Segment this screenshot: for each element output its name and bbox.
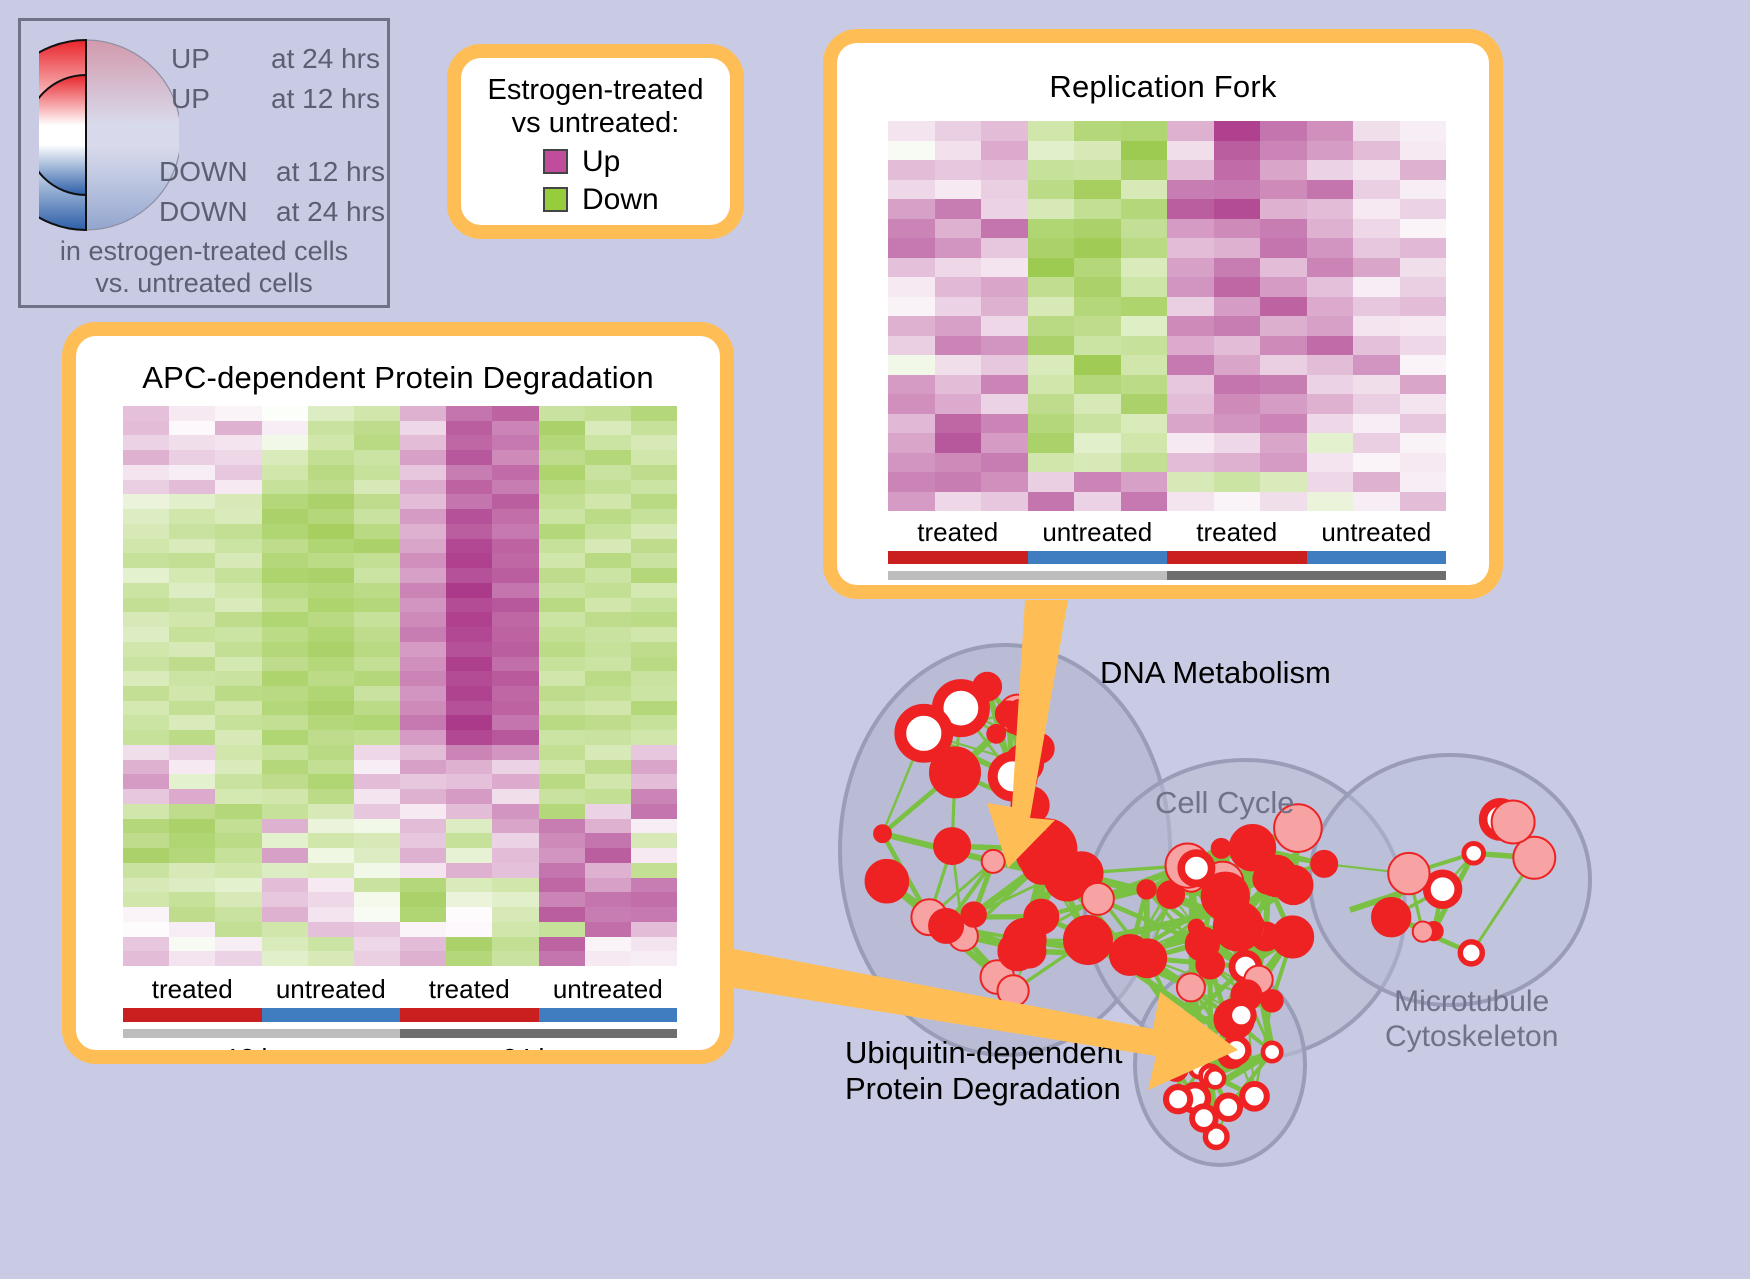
time-label-12: 12 hrs: [123, 1043, 400, 1050]
legend-panel: Estrogen-treated vs untreated: Up Down: [447, 44, 744, 239]
legend-title-line2: vs untreated:: [471, 107, 720, 140]
legend-title: Estrogen-treated vs untreated:: [471, 74, 720, 141]
legend-swatch-up-icon: [543, 149, 568, 174]
legend-title-line1: Estrogen-treated: [471, 74, 720, 107]
group-label-1: untreated: [262, 974, 401, 1005]
time-color-bar-replication-fork: [888, 571, 1446, 580]
legend-item-up: Up: [543, 145, 720, 179]
cluster-label-microtubule-cytoskeleton: Microtubule Cytoskeleton: [1385, 985, 1558, 1054]
legend-label-down: Down: [582, 183, 659, 217]
group-label-1: untreated: [1028, 517, 1168, 548]
group-labels-replication-fork: treated untreated treated untreated: [888, 517, 1446, 548]
panel-title-replication-fork: Replication Fork: [837, 69, 1489, 105]
time-labels-apc: 12 hrs 24 hrs: [123, 1043, 677, 1050]
heatmap-apc: [123, 406, 677, 966]
group-color-bar-replication-fork: [888, 551, 1446, 564]
time-label-24: 24 hrs: [400, 1043, 677, 1050]
group-label-0: treated: [888, 517, 1028, 548]
group-label-3: untreated: [539, 974, 678, 1005]
key-label-down-12: DOWN: [159, 156, 248, 188]
group-label-2: treated: [400, 974, 539, 1005]
group-label-3: untreated: [1307, 517, 1447, 548]
key-time-up-12: at 12 hrs: [271, 83, 380, 115]
group-labels-apc: treated untreated treated untreated: [123, 974, 677, 1005]
color-key-wheel: [39, 35, 179, 235]
key-label-up-12: UP: [171, 83, 210, 115]
panel-title-apc: APC-dependent Protein Degradation: [76, 360, 720, 396]
color-key-caption: in estrogen-treated cells vs. untreated …: [21, 236, 387, 300]
group-label-0: treated: [123, 974, 262, 1005]
time-color-bar-apc: [123, 1029, 677, 1038]
cluster-label-ubiquitin-degradation: Ubiquitin-dependent Protein Degradation: [845, 1035, 1123, 1106]
color-key-caption-line2: vs. untreated cells: [21, 268, 387, 300]
group-color-bar-apc: [123, 1008, 677, 1022]
panel-replication-fork: Replication Fork treated untreated treat…: [823, 29, 1503, 599]
color-key-box: UP at 24 hrs UP at 12 hrs DOWN at 12 hrs…: [18, 18, 390, 308]
pathway-network-diagram: DNA Metabolism Cell Cycle Microtubule Cy…: [790, 610, 1750, 1279]
legend-label-up: Up: [582, 145, 620, 179]
heatmap-replication-fork: [888, 121, 1446, 511]
key-label-down-24: DOWN: [159, 196, 248, 228]
color-key-caption-line1: in estrogen-treated cells: [21, 236, 387, 268]
cluster-label-cell-cycle: Cell Cycle: [1155, 785, 1295, 821]
key-label-up-24: UP: [171, 43, 210, 75]
legend-item-down: Down: [543, 183, 720, 217]
key-time-up-24: at 24 hrs: [271, 43, 380, 75]
key-time-down-24: at 24 hrs: [276, 196, 385, 228]
panel-apc-degradation: APC-dependent Protein Degradation treate…: [62, 322, 734, 1064]
cluster-label-dna-metabolism: DNA Metabolism: [1100, 655, 1331, 691]
group-label-2: treated: [1167, 517, 1307, 548]
legend-swatch-down-icon: [543, 187, 568, 212]
key-time-down-12: at 12 hrs: [276, 156, 385, 188]
